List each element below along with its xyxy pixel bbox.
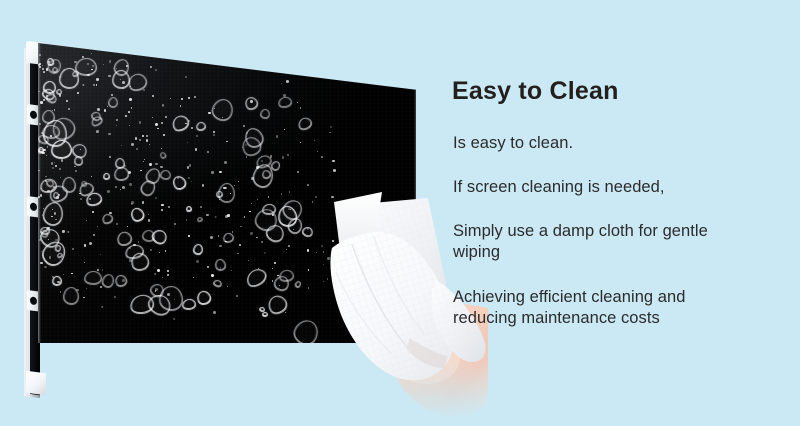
water-speck [111,94,113,96]
water-speck [162,104,164,106]
water-speck [62,230,64,232]
water-speck [152,117,153,118]
water-speck [71,273,73,275]
water-speck [261,241,263,243]
body-line-2: If screen cleaning is needed, [453,177,665,198]
water-speck [129,259,132,262]
water-speck [208,112,211,115]
water-speck [150,66,152,68]
water-speck [86,288,87,289]
water-droplet [74,156,84,166]
water-speck [39,141,40,142]
water-speck [42,152,45,155]
water-speck [55,165,57,167]
water-speck [52,276,53,277]
water-speck [122,81,125,84]
water-speck [129,183,132,186]
water-speck [51,162,54,165]
water-speck [102,269,104,271]
water-speck [92,211,94,213]
water-speck [256,237,258,239]
water-speck [206,214,208,216]
water-speck [167,274,169,276]
water-speck [155,197,157,199]
body-line-3: Simply use a damp cloth for gentle wipin… [453,221,708,263]
water-speck [122,87,124,89]
water-speck [116,223,118,225]
water-speck [185,76,187,78]
water-speck [218,235,220,237]
water-speck [188,97,190,99]
water-speck [148,214,149,215]
water-speck [47,263,48,264]
water-speck [293,229,294,230]
water-speck [39,123,41,125]
water-speck [140,170,141,171]
water-speck [210,236,212,238]
water-speck [283,94,286,97]
water-speck [250,232,253,235]
water-speck [219,171,222,174]
water-speck [79,193,80,194]
water-speck [223,187,226,190]
water-speck [251,203,252,204]
water-speck [142,135,144,137]
water-speck [308,269,309,270]
water-speck [100,201,101,202]
water-speck [50,135,52,137]
water-speck [107,190,110,193]
water-speck [157,269,160,272]
water-speck [312,201,314,203]
water-speck [315,196,317,198]
water-speck [286,249,287,250]
water-speck [211,171,214,174]
water-speck [100,118,102,120]
water-speck [152,95,154,97]
water-speck [96,78,99,81]
water-speck [74,61,77,64]
water-speck [307,249,310,252]
water-speck [300,107,302,109]
water-speck [333,169,336,172]
water-speck [267,235,268,236]
water-speck [104,109,106,111]
water-speck [129,125,130,126]
water-speck [288,245,290,247]
water-speck [167,293,170,296]
water-speck [256,166,259,169]
water-speck [308,287,310,289]
body-line-4: Achieving efficient cleaning and reducin… [453,287,685,329]
water-speck [276,135,278,137]
water-speck [144,159,145,160]
water-droplet [159,170,171,181]
water-speck [46,141,47,142]
water-speck [60,177,61,178]
water-speck [75,170,77,172]
water-droplet [261,203,276,215]
water-speck [314,140,315,141]
water-speck [330,126,332,128]
water-speck [272,214,274,216]
promo-banner: Easy to Clean Is easy to clean. If scree… [0,0,800,426]
text-column: Easy to Clean Is easy to clean. If scree… [451,0,791,426]
water-speck [279,285,280,286]
water-speck [89,242,92,245]
water-droplet [84,270,103,285]
panel-corner-bracket-bottom-left [26,371,46,395]
water-speck [258,268,259,269]
water-droplet [58,68,79,90]
water-speck [122,279,125,282]
page-title: Easy to Clean [452,78,619,106]
water-speck [136,148,138,150]
water-speck [238,181,239,182]
water-speck [188,235,190,237]
water-speck [91,53,92,54]
water-speck [226,141,227,142]
water-speck [93,84,95,86]
water-speck [129,98,132,101]
water-speck [55,128,56,129]
water-speck [149,144,150,145]
water-speck [307,227,310,230]
water-speck [96,130,99,133]
water-speck [109,60,111,62]
water-speck [317,151,318,152]
water-speck [243,125,245,127]
water-speck [150,249,152,251]
body-line-1: Is easy to clean. [453,133,573,154]
water-speck [114,296,116,298]
water-droplet [102,172,109,180]
water-speck [116,68,117,69]
water-speck [56,196,59,199]
water-speck [80,198,82,200]
water-speck [135,137,138,140]
water-speck [39,66,41,68]
water-speck [297,102,298,103]
water-speck [219,245,221,247]
water-speck [139,139,140,140]
water-speck [207,266,209,268]
water-speck [161,209,163,211]
water-speck [236,295,238,297]
water-speck [131,143,134,146]
water-speck [55,239,58,242]
water-speck [329,132,331,134]
water-speck [131,203,133,205]
water-speck [155,123,158,126]
water-speck [148,219,151,222]
water-speck [48,239,49,240]
product-image [0,0,440,426]
water-speck [46,155,47,156]
water-speck [42,65,43,66]
water-speck [66,100,68,102]
water-speck [181,98,183,100]
water-speck [49,256,51,258]
water-speck [250,100,253,103]
water-speck [222,117,223,118]
water-speck [47,190,49,192]
water-speck [286,80,289,83]
water-speck [281,193,283,195]
water-speck [213,134,215,136]
water-speck [116,119,118,121]
water-speck [225,215,228,218]
water-speck [174,223,177,226]
water-speck [109,156,111,158]
water-speck [224,161,227,164]
water-speck [59,94,62,97]
water-speck [230,193,231,194]
water-speck [39,54,41,56]
water-speck [59,168,62,171]
water-speck [195,148,198,151]
water-speck [193,277,194,278]
water-speck [128,111,130,113]
water-speck [57,281,59,283]
water-speck [121,145,122,146]
water-speck [196,260,199,263]
water-speck [122,186,125,189]
water-speck [211,274,214,277]
water-speck [125,115,127,117]
water-speck [284,129,285,130]
water-speck [165,116,167,118]
water-speck [177,177,179,179]
water-speck [91,69,92,70]
water-speck [43,149,46,152]
water-speck [180,105,181,106]
water-speck [131,107,132,108]
